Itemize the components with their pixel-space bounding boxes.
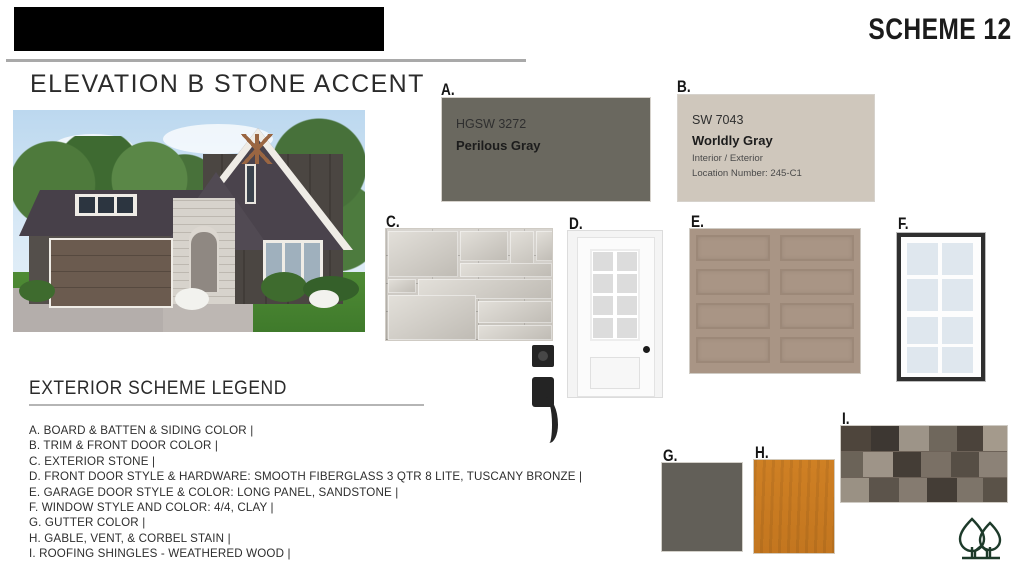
legend-item: G. GUTTER COLOR | [29, 515, 669, 530]
shrub [261, 272, 307, 302]
roofing-shingle-sample [840, 425, 1008, 503]
legend-item: F. WINDOW STYLE AND COLOR: 4/4, CLAY | [29, 500, 669, 515]
paint-location-b: Location Number: 245-C1 [692, 168, 802, 179]
paint-usage-b: Interior / Exterior [692, 153, 763, 164]
dormer-window [75, 194, 137, 216]
window-sample [896, 232, 986, 382]
front-door-sample [567, 230, 663, 398]
legend-item: D. FRONT DOOR STYLE & HARDWARE: SMOOTH F… [29, 469, 669, 484]
door-knob [643, 346, 650, 353]
legend-item: C. EXTERIOR STONE | [29, 454, 669, 469]
gable-window [245, 164, 256, 204]
scheme-title: SCHEME 12 [869, 13, 1012, 47]
paint-name-a: Perilous Gray [456, 138, 541, 153]
flower-bed [175, 288, 209, 310]
redacted-logo-block [14, 7, 384, 51]
exterior-stone-sample [385, 228, 553, 341]
gable-corbel-detail [235, 134, 279, 164]
paint-code-a: HGSW 3272 [456, 117, 526, 131]
legend-item: I. ROOFING SHINGLES - WEATHERED WOOD | [29, 546, 669, 561]
paint-chip-b: SW 7043 Worldly Gray Interior / Exterior… [677, 94, 875, 202]
shrub [19, 280, 55, 302]
sample-label-f: F. [898, 214, 909, 234]
legend-divider [29, 404, 424, 406]
legend-title: EXTERIOR SCHEME LEGEND [29, 378, 287, 400]
house-elevation-image [13, 110, 365, 332]
gutter-color-sample [661, 462, 743, 552]
garage-door-sample [689, 228, 861, 374]
legend-item: A. BOARD & BATTEN & SIDING COLOR | [29, 423, 669, 438]
garage-door [49, 238, 173, 308]
legend-item: H. GABLE, VENT, & CORBEL STAIN | [29, 531, 669, 546]
front-door [191, 232, 217, 292]
legend-item: E. GARAGE DOOR STYLE & COLOR: LONG PANEL… [29, 485, 669, 500]
paint-name-b: Worldly Gray [692, 133, 773, 148]
legend-item: B. TRIM & FRONT DOOR COLOR | [29, 438, 669, 453]
paint-code-b: SW 7043 [692, 113, 743, 127]
legend-list: A. BOARD & BATTEN & SIDING COLOR | B. TR… [29, 423, 669, 562]
scheme-board: SCHEME 12 ELEVATION B STONE ACCENT [0, 0, 1024, 571]
trees-and-house-logo [954, 513, 1008, 563]
flower-bed [309, 290, 339, 308]
paint-chip-a: HGSW 3272 Perilous Gray [441, 97, 651, 202]
gable-vent-corbel-stain-sample [753, 459, 835, 554]
header-divider [6, 59, 526, 62]
elevation-title: ELEVATION B STONE ACCENT [30, 70, 425, 99]
